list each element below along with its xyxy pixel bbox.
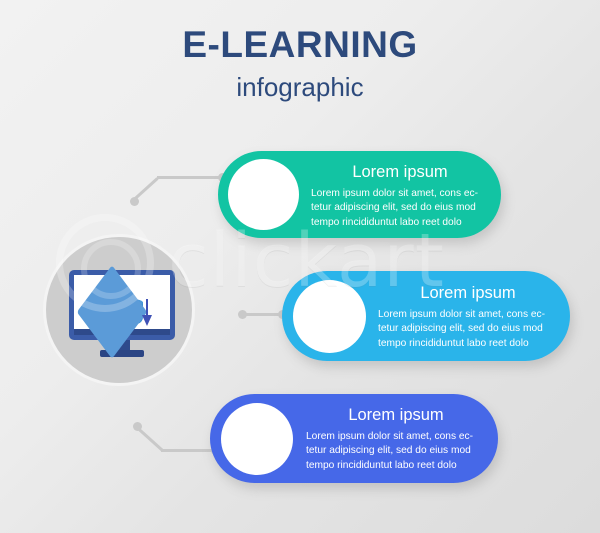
title-block: E-LEARNING infographic [0, 26, 600, 101]
step-text-2: Lorem ipsum Lorem ipsum dolor sit amet, … [378, 284, 558, 351]
step-heading-1: Lorem ipsum [311, 163, 489, 183]
cap-tassel-string [146, 299, 148, 316]
page-title: E-LEARNING [0, 26, 600, 65]
step-card-2[interactable]: Lorem ipsum Lorem ipsum dolor sit amet, … [282, 271, 570, 361]
step-body-line: tetur adipiscing elit, sed do eius mod [378, 322, 558, 336]
step-body-line: tetur adipiscing elit, sed do eius mod [306, 444, 486, 458]
step-text-3: Lorem ipsum Lorem ipsum dolor sit amet, … [306, 406, 486, 473]
step-number-circle-2 [293, 280, 366, 353]
step-heading-2: Lorem ipsum [378, 284, 558, 304]
connector-segment-horizontal [161, 449, 216, 452]
step-text-1: Lorem ipsum Lorem ipsum dolor sit amet, … [311, 163, 489, 230]
step-card-1[interactable]: Lorem ipsum Lorem ipsum dolor sit amet, … [218, 151, 501, 238]
step-body-line: Lorem ipsum dolor sit amet, cons ec- [311, 187, 489, 201]
connector-segment-horizontal [244, 313, 282, 316]
e-learning-monitor-circle [43, 234, 195, 386]
infographic-canvas: E-LEARNING infographic [0, 0, 600, 533]
step-number-circle-3 [221, 403, 293, 475]
step-body-line: tempo rincididuntut labo reet dolo [306, 459, 486, 473]
step-number-circle-1 [228, 159, 299, 230]
step-heading-3: Lorem ipsum [306, 406, 486, 426]
connector-step-1 [130, 172, 230, 208]
step-body-line: tempo rincididuntut labo reet dolo [378, 337, 558, 351]
step-body-line: tempo rincididuntut labo reet dolo [311, 216, 489, 230]
graduation-cap-icon [83, 281, 163, 327]
step-body-line: Lorem ipsum dolor sit amet, cons ec- [306, 430, 486, 444]
step-body-2: Lorem ipsum dolor sit amet, cons ec- tet… [378, 308, 558, 351]
step-card-3[interactable]: Lorem ipsum Lorem ipsum dolor sit amet, … [210, 394, 498, 483]
step-body-line: Lorem ipsum dolor sit amet, cons ec- [378, 308, 558, 322]
monitor-graduation-cap-icon [69, 270, 175, 356]
step-body-1: Lorem ipsum dolor sit amet, cons ec- tet… [311, 187, 489, 230]
connector-segment-horizontal [157, 176, 222, 179]
page-subtitle: infographic [0, 74, 600, 101]
step-body-line: tetur adipiscing elit, sed do eius mod [311, 201, 489, 215]
cap-tassel [142, 315, 152, 326]
step-body-3: Lorem ipsum dolor sit amet, cons ec- tet… [306, 430, 486, 473]
connector-segment-diagonal [132, 177, 159, 201]
connector-segment-diagonal [136, 426, 163, 451]
